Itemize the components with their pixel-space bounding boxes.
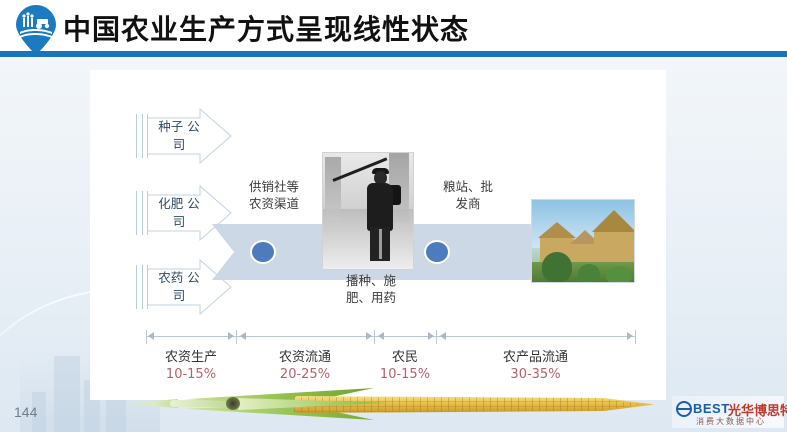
segment-label-1: 农资流通 [236,346,374,365]
segment-brackets [146,330,636,344]
segment-value-1: 20-25% [236,367,374,382]
corn-node [226,397,240,410]
bracket-tick-0 [146,330,147,344]
segment-value-2: 10-15% [374,367,436,382]
supplier-bars [136,265,148,309]
bracket-tick-3 [436,330,437,344]
bracket-arrow-2l [378,332,384,340]
photo-legs [370,227,390,261]
segment-value-0: 10-15% [146,367,236,382]
segment-label-2: 农民 [374,346,436,365]
brand-logo: BEST 光华博思特 消费大数据中心 [672,396,784,428]
granary-bush-2 [578,264,600,283]
farm-pin-icon [14,4,58,56]
granary-photo [531,199,635,283]
flow-node-2[interactable] [424,240,450,264]
segment-label-3: 农产品流通 [436,346,635,365]
granary-bush-1 [542,252,572,282]
logo-subtitle: 消费大数据中心 [696,416,766,427]
granary-bush-3 [606,266,632,283]
granary-roof-3 [592,210,635,232]
bracket-axis [146,336,636,337]
supplier-bars [136,191,148,235]
bracket-arrow-0r [228,332,234,340]
supplier-pesticide-label: 农药 公司 [158,269,200,305]
corn-tip [118,399,178,408]
page-title: 中国农业生产方式呈现线性状态 [63,8,469,48]
flow-node-1[interactable] [250,240,276,264]
supplier-seed[interactable]: 种子 公司 [136,108,232,164]
segment-value-3: 30-35% [436,367,635,382]
bracket-tick-2 [374,330,375,344]
best-circle-icon [676,401,692,417]
bracket-arrow-3l [440,332,446,340]
logo-brand-en: BEST [693,401,730,416]
slide-header: 中国农业生产方式呈现线性状态 [0,0,787,58]
bracket-arrow-2r [428,332,434,340]
supplier-seed-label: 种子 公司 [158,118,200,154]
photo-body [367,183,393,231]
bracket-tick-4 [635,330,636,344]
bracket-arrow-1l [240,332,246,340]
farmer-photo [322,152,414,270]
bracket-arrow-1r [366,332,372,340]
bracket-tick-1 [236,330,237,344]
bracket-arrow-0l [148,332,154,340]
supplier-fertilizer-label: 化肥 公司 [158,195,200,231]
photo-tree-left [325,157,341,221]
label-grain-station: 粮站、批 发商 [428,178,508,212]
label-agri-channel: 供销社等 农资渠道 [222,178,326,212]
slide-root: 中国农业生产方式呈现线性状态 种子 公司 化肥 公司 农 [0,0,787,432]
corn-cob-image [118,386,664,424]
supplier-bars [136,114,148,158]
segment-label-0: 农资生产 [146,346,236,365]
bracket-arrow-3r [627,332,633,340]
label-farm-activity: 播种、施 肥、用药 [316,272,426,306]
page-number: 144 [14,404,37,420]
